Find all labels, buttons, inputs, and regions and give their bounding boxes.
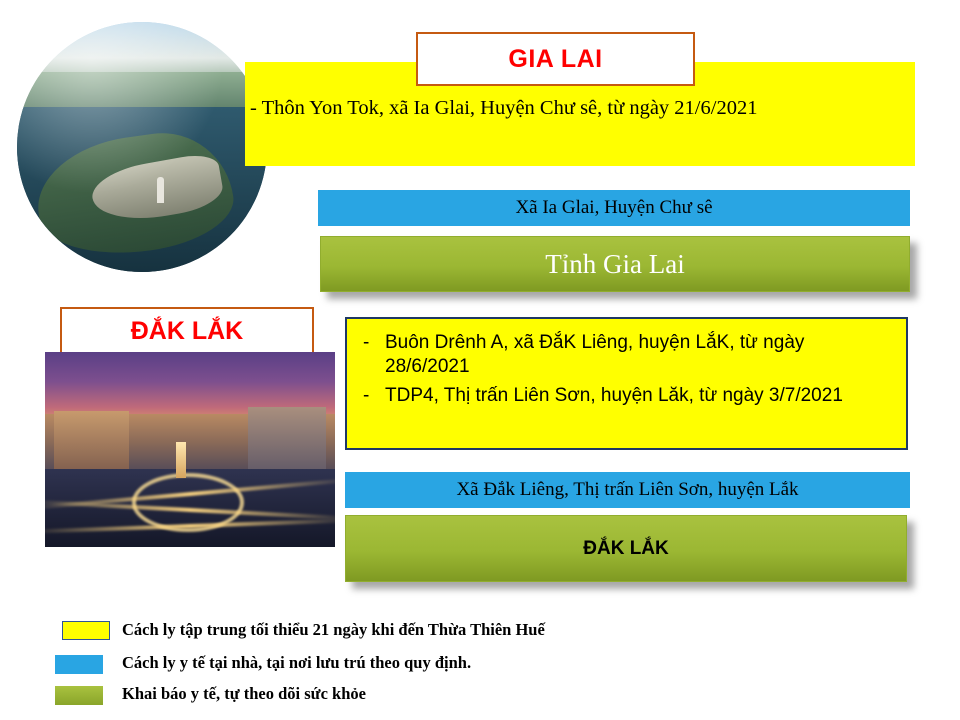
bullet-dash-icon: - xyxy=(363,331,385,355)
dak-lak-detail-text: Buôn Drênh A, xã ĐắK Liêng, huyện LắK, t… xyxy=(385,331,892,380)
legend-swatch-home-isolation xyxy=(55,655,103,674)
gia-lai-province-label: GIA LAI xyxy=(416,32,695,86)
photo-monument xyxy=(176,442,186,478)
dak-lak-green-bar-text: ĐẮK LẮK xyxy=(583,538,669,560)
legend-label-health-declaration: Khai báo y tế, tự theo dõi sức khỏe xyxy=(122,684,366,704)
gia-lai-label-text: GIA LAI xyxy=(508,45,602,74)
dak-lak-province-label: ĐẮK LẮK xyxy=(60,307,314,356)
photo-building-right xyxy=(248,407,326,477)
dak-lak-blue-bar-text: Xã Đắk Liêng, Thị trấn Liên Sơn, huyện L… xyxy=(456,479,798,501)
dak-lak-blue-bar: Xã Đắk Liêng, Thị trấn Liên Sơn, huyện L… xyxy=(345,472,910,508)
dak-lak-detail-box: - Buôn Drênh A, xã ĐắK Liêng, huyện LắK,… xyxy=(345,317,908,450)
slide-canvas: GIA LAI - Thôn Yon Tok, xã Ia Glai, Huyệ… xyxy=(0,0,960,720)
gia-lai-blue-bar: Xã Ia Glai, Huyện Chư sê xyxy=(318,190,910,226)
legend-swatch-quarantine xyxy=(62,621,110,640)
gia-lai-green-bar-text: Tỉnh Gia Lai xyxy=(545,249,684,280)
bullet-dash-icon: - xyxy=(363,384,385,408)
dak-lak-detail-item: - TDP4, Thị trấn Liên Sơn, huyện Lăk, từ… xyxy=(363,384,892,408)
legend-label-home-isolation: Cách ly y tế tại nhà, tại nơi lưu trú th… xyxy=(122,653,471,673)
legend-swatch-health-declaration xyxy=(55,686,103,705)
dak-lak-detail-text: TDP4, Thị trấn Liên Sơn, huyện Lăk, từ n… xyxy=(385,384,843,408)
legend-label-quarantine: Cách ly tập trung tối thiểu 21 ngày khi … xyxy=(122,620,545,640)
gia-lai-detail-text: - Thôn Yon Tok, xã Ia Glai, Huyện Chư sê… xyxy=(250,97,910,120)
gia-lai-blue-bar-text: Xã Ia Glai, Huyện Chư sê xyxy=(515,197,712,219)
dak-lak-city-night-photo xyxy=(45,352,335,547)
dak-lak-green-bar: ĐẮK LẮK xyxy=(345,515,907,582)
photo-building-left xyxy=(54,411,129,477)
dak-lak-label-text: ĐẮK LẮK xyxy=(131,317,244,346)
photo-glow xyxy=(17,22,267,272)
gia-lai-lake-photo xyxy=(17,22,267,272)
dak-lak-detail-item: - Buôn Drênh A, xã ĐắK Liêng, huyện LắK,… xyxy=(363,331,892,380)
gia-lai-green-bar: Tỉnh Gia Lai xyxy=(320,236,910,292)
